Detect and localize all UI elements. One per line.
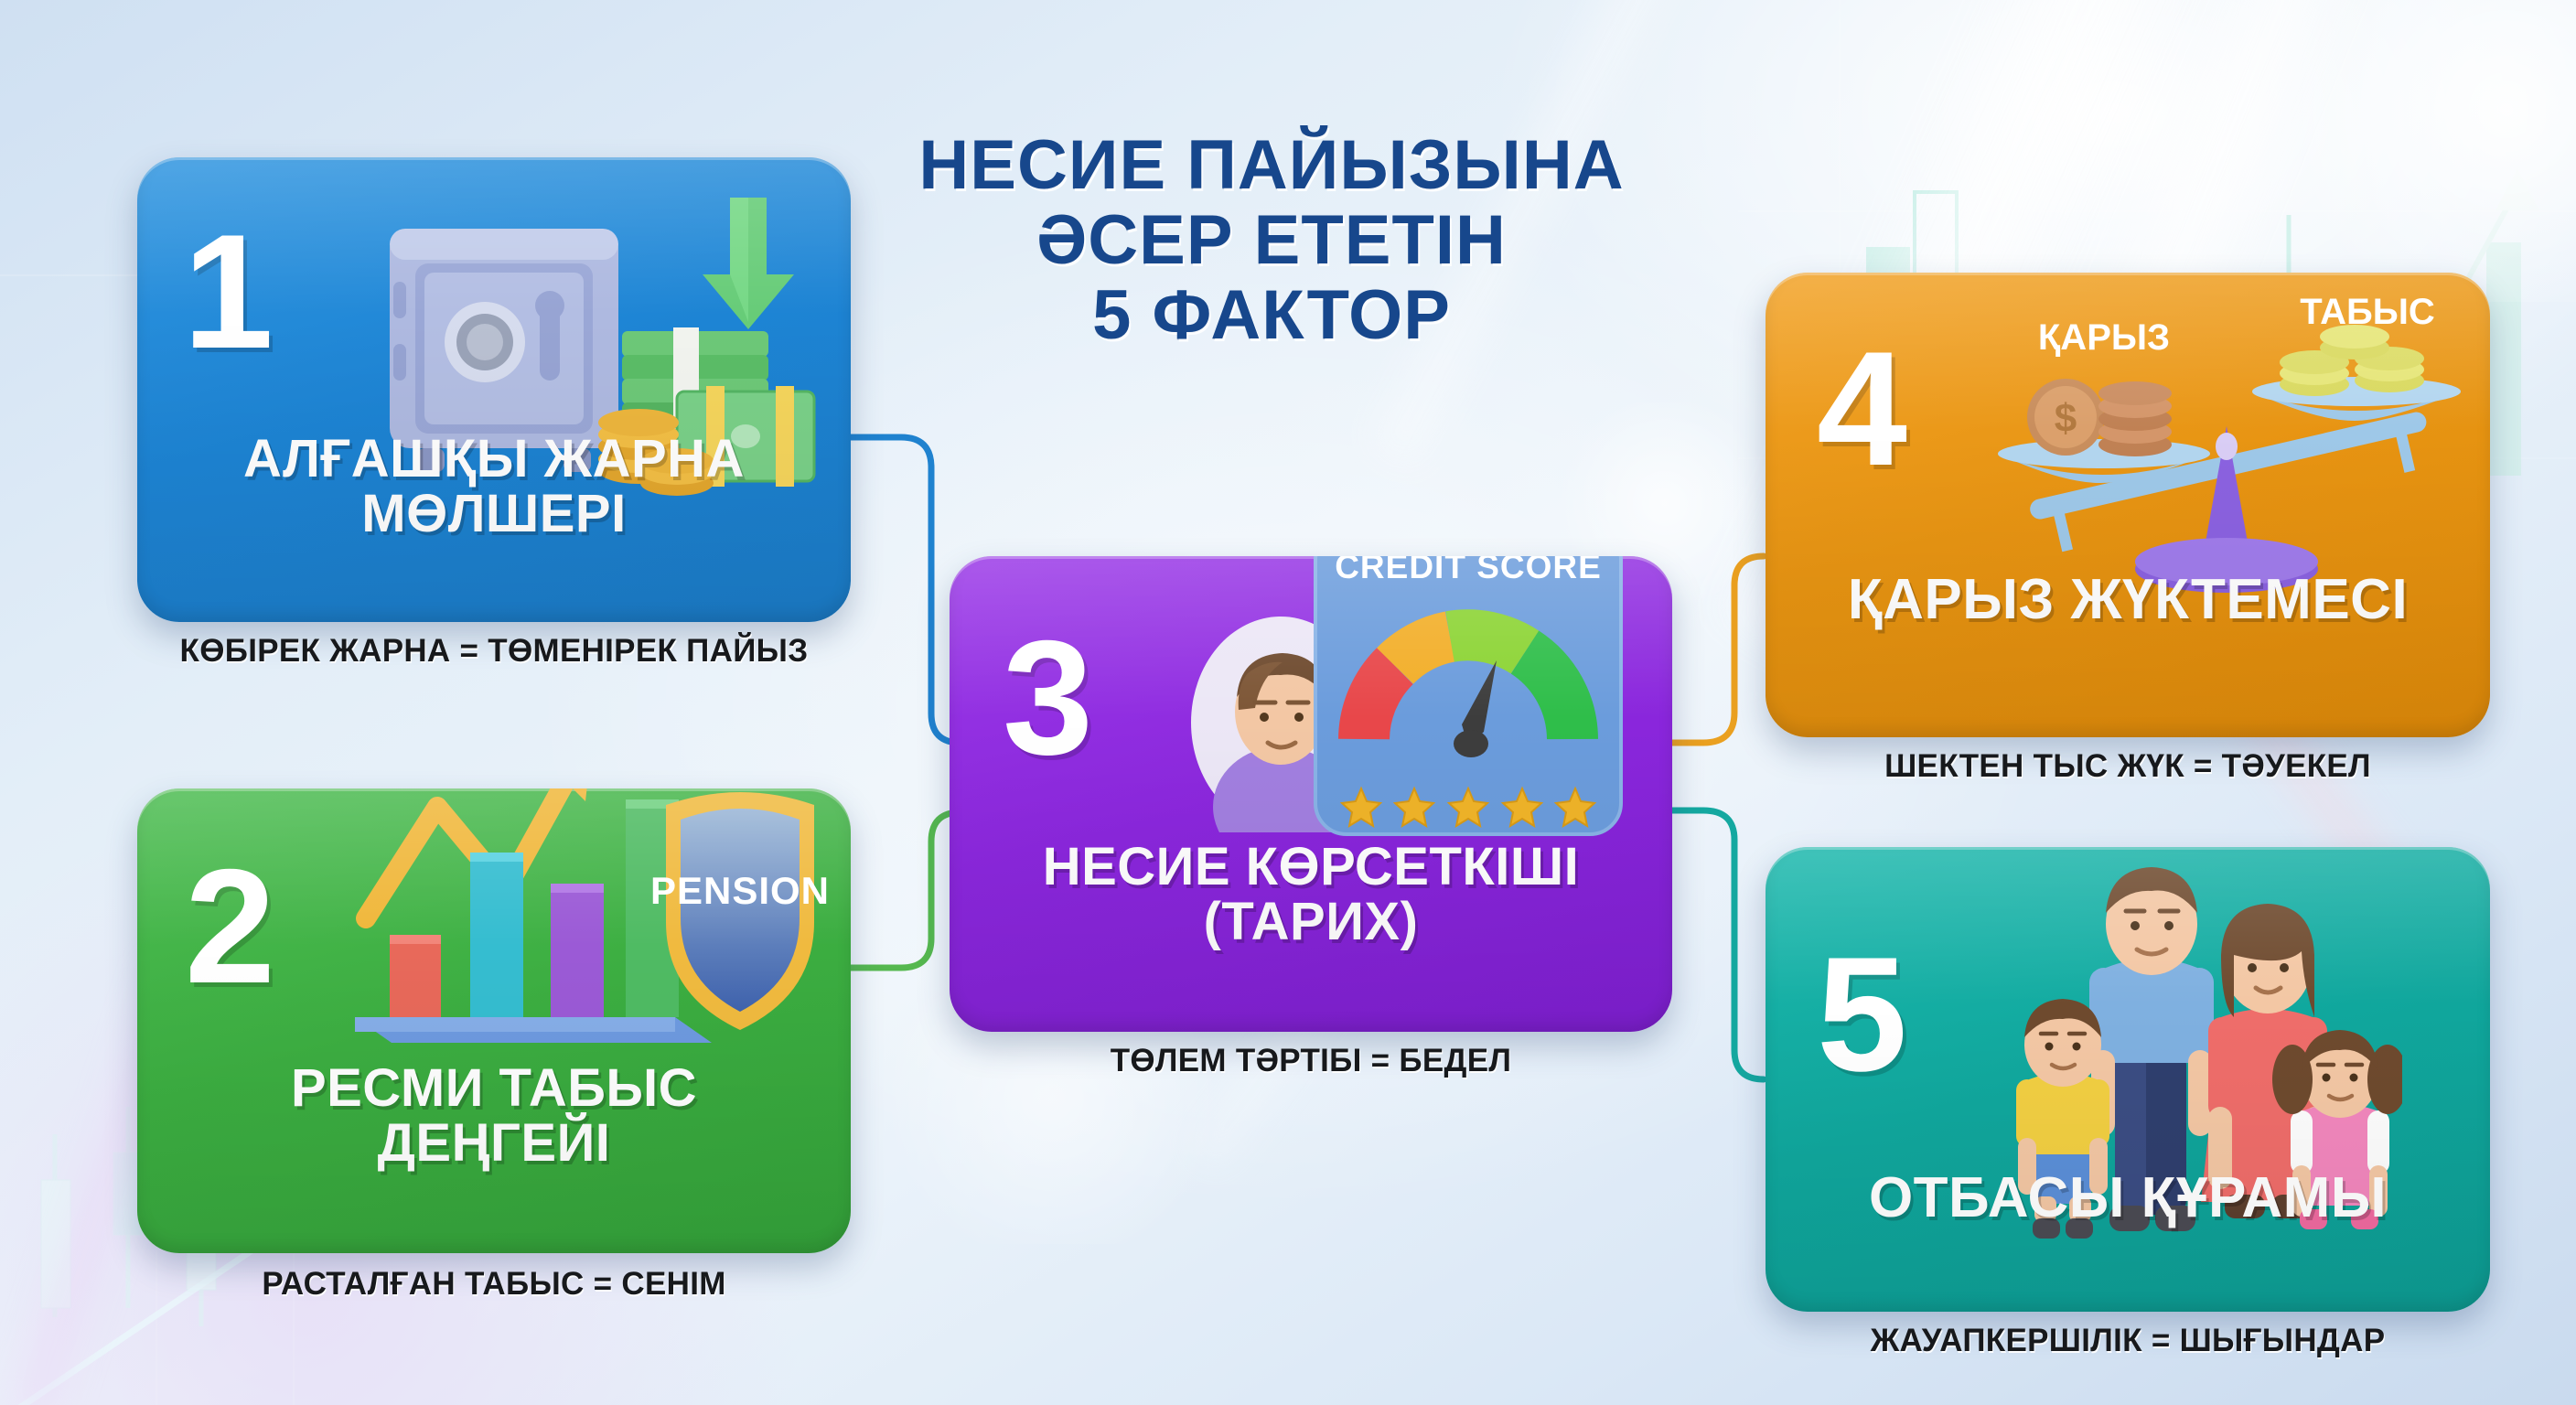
svg-text:PENSION: PENSION: [650, 869, 830, 912]
card-title-2: РЕСМИ ТАБЫС ДЕҢГЕЙІ: [137, 1061, 851, 1172]
page-title-line-2: ӘСЕР ЕТЕТІН: [787, 203, 1756, 278]
card-title-5-line-1: ОТБАСЫ ҚҰРАМЫ: [1766, 1169, 2490, 1228]
card-title-3: НЕСИЕ КӨРСЕТКІШІ (ТАРИХ): [950, 840, 1672, 950]
card-title-1-line-2: МӨЛШЕРІ: [137, 487, 851, 542]
factor-card-1[interactable]: 1: [137, 157, 851, 622]
svg-text:$: $: [2055, 396, 2077, 441]
svg-text:CREDIT SCORE: CREDIT SCORE: [1335, 556, 1602, 585]
family-icon: [1981, 847, 2402, 1301]
credit-score-gauge-icon: CREDIT SCORE: [1308, 556, 1628, 842]
card-title-5: ОТБАСЫ ҚҰРАМЫ: [1766, 1169, 2490, 1228]
page-title-line-3: 5 ФАКТОР: [787, 278, 1756, 353]
card-title-2-line-1: РЕСМИ ТАБЫС: [137, 1061, 851, 1116]
page-title-line-1: НЕСИЕ ПАЙЫЗЫНА: [787, 128, 1756, 203]
card-title-3-line-1: НЕСИЕ КӨРСЕТКІШІ: [950, 840, 1672, 895]
card-caption-4: ШЕКТЕН ТЫС ЖҮК = ТӘУЕКЕЛ: [1766, 748, 2490, 785]
card-caption-3: ТӨЛЕМ ТӘРТІБІ = БЕДЕЛ: [950, 1043, 1672, 1079]
factor-card-4[interactable]: 4 ҚАРЫЗ ТАБЫС $: [1766, 273, 2490, 737]
card-number-2: 2: [185, 845, 275, 1008]
card-number-5: 5: [1817, 933, 1907, 1096]
card-title-4: ҚАРЫЗ ЖҮКТЕМЕСІ: [1766, 571, 2490, 629]
card-title-2-line-2: ДЕҢГЕЙІ: [137, 1116, 851, 1171]
card-title-1: АЛҒАШҚЫ ЖАРНА МӨЛШЕРІ: [137, 432, 851, 542]
card-title-1-line-1: АЛҒАШҚЫ ЖАРНА: [137, 432, 851, 487]
factor-card-5[interactable]: 5: [1766, 847, 2490, 1312]
factor-card-3[interactable]: 3 CREDIT SCORE: [950, 556, 1672, 1032]
card-title-3-line-2: (ТАРИХ): [950, 895, 1672, 949]
card-number-4: 4: [1817, 327, 1907, 490]
page-title: НЕСИЕ ПАЙЫЗЫНА ӘСЕР ЕТЕТІН 5 ФАКТОР: [787, 128, 1756, 353]
card-number-3: 3: [1003, 617, 1093, 779]
card-number-1: 1: [183, 210, 274, 373]
card-caption-5: ЖАУАПКЕРШІЛІК = ШЫҒЫНДАР: [1766, 1323, 2490, 1359]
light-spark: [2250, 0, 2576, 302]
card-caption-1: КӨБІРЕК ЖАРНА = ТӨМЕНІРЕК ПАЙЫЗ: [137, 633, 851, 670]
factor-card-2[interactable]: 2 PENSION РЕСМИ ТАБЫС ДЕҢГЕЙІ: [137, 788, 851, 1253]
balance-scale-icon: ҚАРЫЗ ТАБЫС $: [1981, 293, 2475, 595]
scale-left-label: ҚАРЫЗ: [2038, 317, 2170, 358]
card-title-4-line-1: ҚАРЫЗ ЖҮКТЕМЕСІ: [1766, 571, 2490, 629]
card-caption-2: РАСТАЛҒАН ТАБЫС = СЕНІМ: [137, 1266, 851, 1303]
